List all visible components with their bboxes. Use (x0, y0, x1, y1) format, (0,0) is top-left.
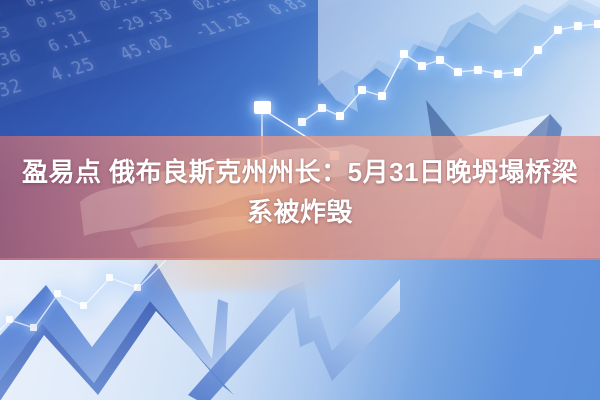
headline: 盈易点 俄布良斯克州州长：5月31日晚坍塌桥梁 系被炸毁 (0, 152, 600, 232)
headline-line-2: 系被炸毁 (14, 192, 586, 232)
headline-line-1: 盈易点 俄布良斯克州州长：5月31日晚坍塌桥梁 (14, 152, 586, 192)
news-banner: -29.332.96-11.2545.0221.33-11.254.25-02.… (0, 0, 600, 400)
